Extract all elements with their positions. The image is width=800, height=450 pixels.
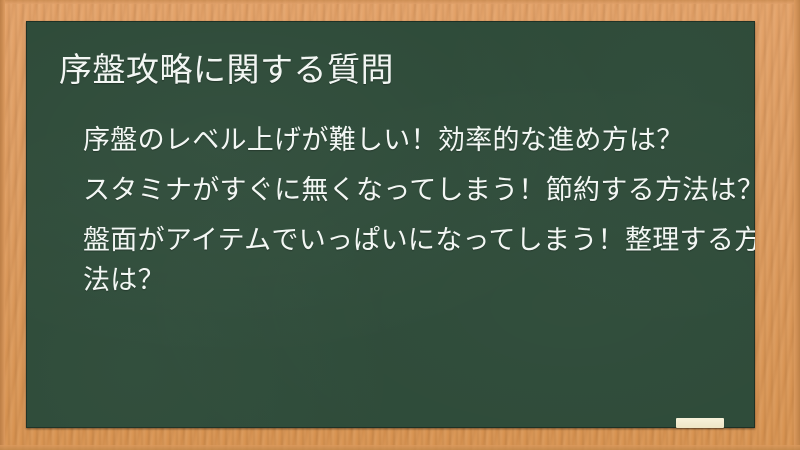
list-item: 盤面がアイテムでいっぱいになってしまう！整理する方法は？ xyxy=(83,221,755,301)
chalk-stick xyxy=(676,418,724,428)
list-item: スタミナがすぐに無くなってしまう！節約する方法は？ xyxy=(83,171,755,211)
frame-ledge-bottom xyxy=(0,445,800,450)
chalkboard-surface: 序盤攻略に関する質問 序盤のレベル上げが難しい！効率的な進め方は？ スタミナがす… xyxy=(26,21,755,428)
chalkboard-slide: 序盤攻略に関する質問 序盤のレベル上げが難しい！効率的な進め方は？ スタミナがす… xyxy=(0,0,800,450)
question-list: 序盤のレベル上げが難しい！効率的な進め方は？ スタミナがすぐに無くなってしまう！… xyxy=(83,121,755,311)
frame-edge-right xyxy=(794,0,800,450)
frame-edge-left xyxy=(0,0,5,450)
frame-edge-top xyxy=(0,0,800,4)
list-item: 序盤のレベル上げが難しい！効率的な進め方は？ xyxy=(83,121,755,161)
page-title: 序盤攻略に関する質問 xyxy=(59,51,729,89)
